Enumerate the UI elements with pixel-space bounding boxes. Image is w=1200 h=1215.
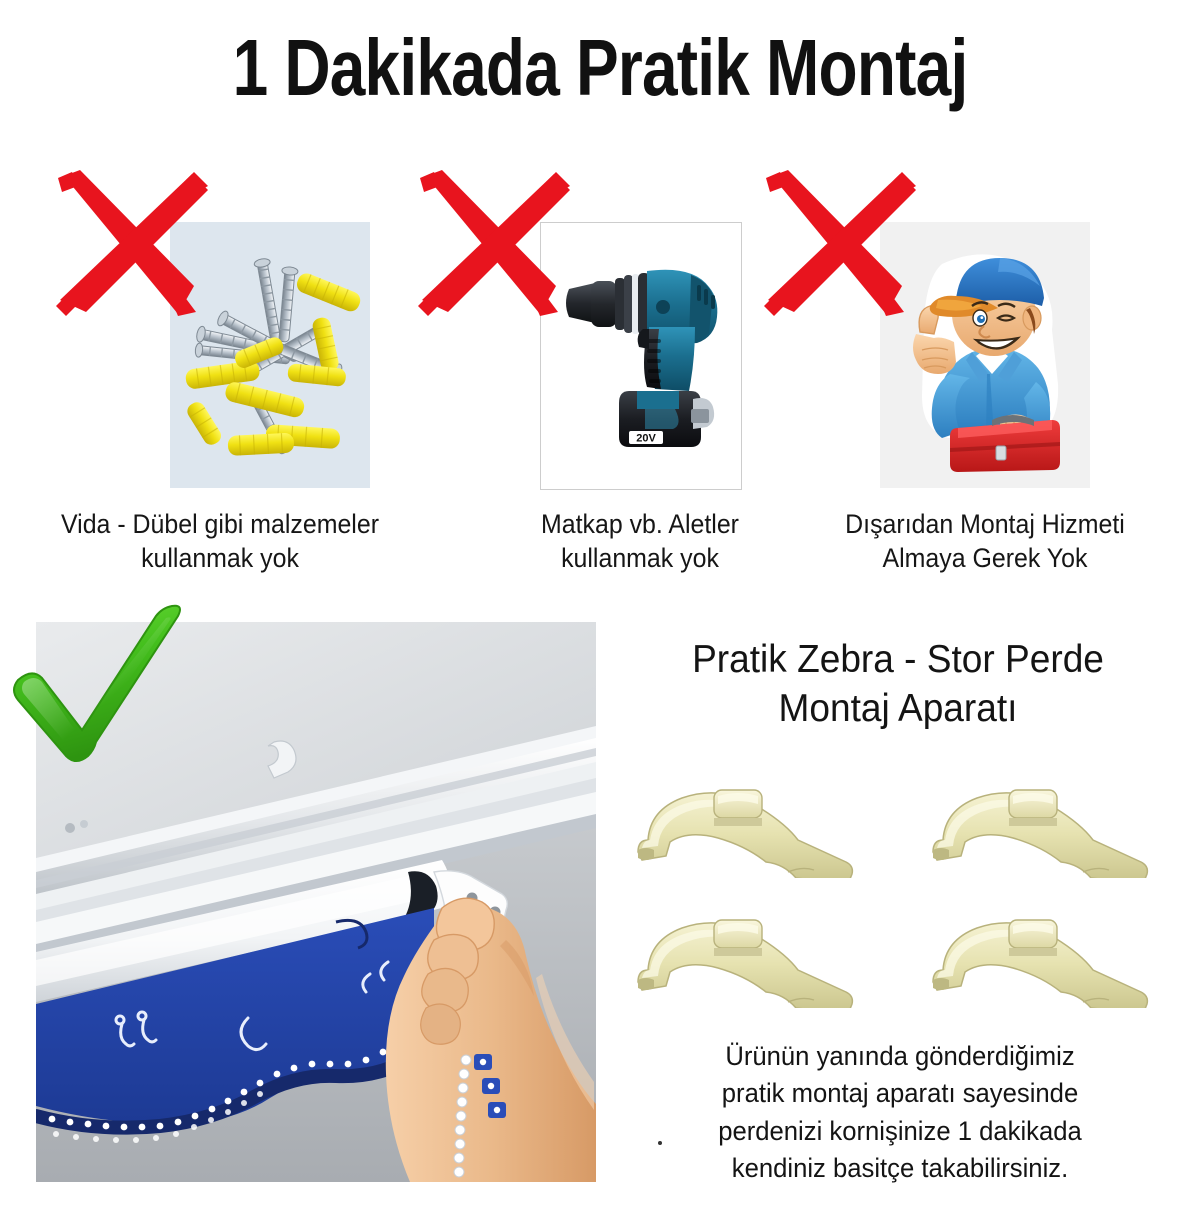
description-line-1: Ürünün yanında gönderdiğimiz xyxy=(634,1038,1166,1075)
product-heading-line-2: Montaj Aparatı xyxy=(623,685,1174,734)
infographic-canvas: 1 Dakikada Pratik Montaj xyxy=(0,0,1200,1215)
stray-dot-artifact xyxy=(658,1141,662,1145)
caption-screws: Vida - Dübel gibi malzemeler kullanmak y… xyxy=(23,508,418,576)
screws-and-wall-plugs-photo xyxy=(170,222,370,488)
product-description: Ürünün yanında gönderdiğimiz pratik mont… xyxy=(634,1038,1166,1187)
green-check-icon xyxy=(10,604,188,764)
cordless-drill-photo: 20V xyxy=(540,222,742,490)
caption-drill: Matkap vb. Aletler kullanmak yok xyxy=(461,508,818,576)
caption-line-2: kullanmak yok xyxy=(23,542,418,576)
description-line-2: pratik montaj aparatı sayesinde xyxy=(634,1075,1166,1112)
mounting-clip xyxy=(923,898,1173,1008)
page-title: 1 Dakikada Pratik Montaj xyxy=(120,22,1080,114)
handyman-with-toolbox-illustration xyxy=(880,222,1090,488)
product-heading-line-1: Pratik Zebra - Stor Perde xyxy=(623,636,1174,685)
caption-line-1: Dışarıdan Montaj Hizmeti xyxy=(802,508,1169,542)
mounting-clip xyxy=(628,768,878,878)
description-line-4: kendiniz basitçe takabilirsiniz. xyxy=(634,1150,1166,1187)
caption-installer: Dışarıdan Montaj Hizmeti Almaya Gerek Yo… xyxy=(802,508,1169,576)
mounting-clips-grid xyxy=(628,768,1173,1013)
description-line-3: perdenizi kornişinize 1 dakikada xyxy=(634,1113,1166,1150)
caption-line-1: Vida - Dübel gibi malzemeler xyxy=(23,508,418,542)
mounting-clip xyxy=(628,898,878,1008)
mounting-clip xyxy=(923,768,1173,878)
caption-line-2: kullanmak yok xyxy=(461,542,818,576)
caption-line-2: Almaya Gerek Yok xyxy=(802,542,1169,576)
product-heading: Pratik Zebra - Stor Perde Montaj Aparatı xyxy=(623,636,1174,734)
caption-line-1: Matkap vb. Aletler xyxy=(461,508,818,542)
battery-voltage-label: 20V xyxy=(636,433,656,445)
